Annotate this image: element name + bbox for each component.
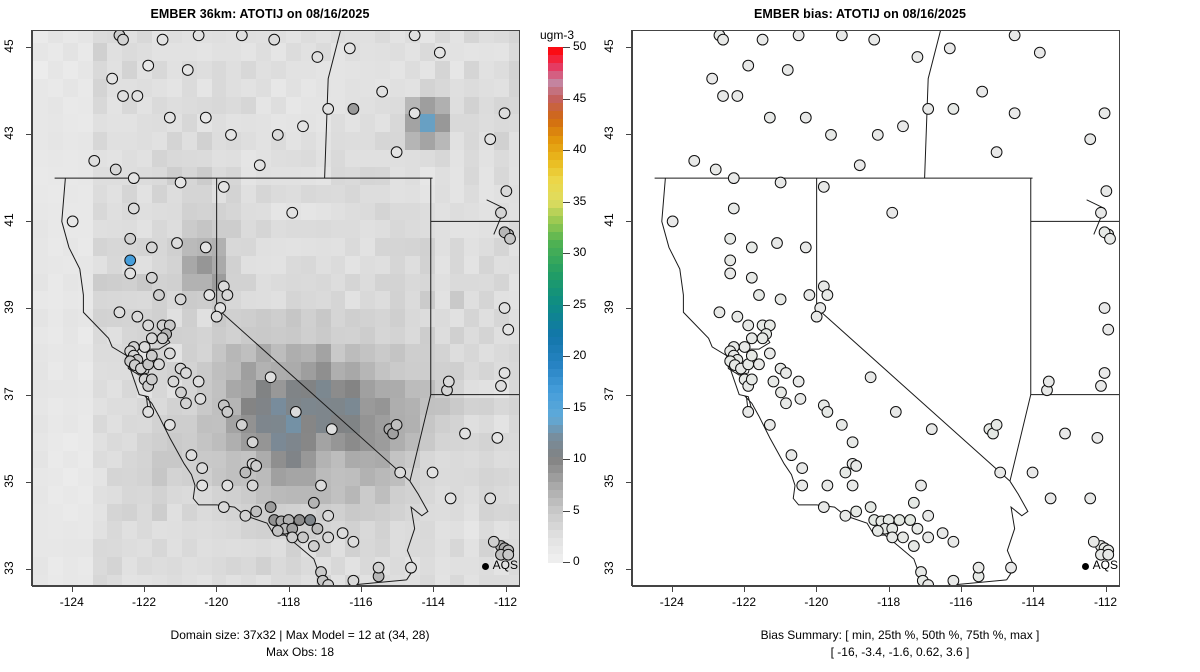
left-footer-line1: Domain size: 37x32 | Max Model = 12 at (… (0, 628, 600, 642)
aqs-site-marker (287, 207, 298, 218)
aqs-site-marker (1043, 376, 1054, 387)
aqs-site-marker (125, 255, 136, 266)
aqs-site-marker (718, 91, 729, 102)
aqs-site-marker (287, 532, 298, 543)
colorbar-tick (563, 562, 570, 563)
aqs-site-marker (973, 562, 984, 573)
aqs-site-marker (1096, 207, 1107, 218)
aqs-site-marker (908, 541, 919, 552)
y-tick-label: 37 (2, 379, 16, 409)
aqs-site-marker (445, 493, 456, 504)
y-tick-label: 33 (2, 553, 16, 583)
aqs-site-marker (348, 104, 359, 115)
aqs-site-marker (847, 437, 858, 448)
aqs-site-marker (887, 207, 898, 218)
aqs-site-marker (1092, 432, 1103, 443)
aqs-site-marker (240, 467, 251, 478)
aqs-site-marker (923, 532, 934, 543)
left-footer-line2: Max Obs: 18 (0, 645, 600, 659)
aqs-site-marker (222, 480, 233, 491)
x-tick-label: -116 (339, 595, 383, 609)
x-tick-label: -114 (1011, 595, 1055, 609)
aqs-site-marker (118, 34, 129, 45)
aqs-site-marker (1105, 233, 1116, 244)
aqs-site-marker (114, 307, 125, 318)
aqs-site-marker (427, 467, 438, 478)
aqs-site-marker (226, 129, 237, 140)
aqs-site-marker (948, 536, 959, 547)
y-tick-label: 45 (2, 31, 16, 61)
aqs-site-marker (725, 255, 736, 266)
aqs-site-marker (488, 536, 499, 547)
colorbar-tick (563, 459, 570, 460)
colorbar-tick-label: 20 (573, 348, 586, 362)
aqs-site-marker (739, 342, 750, 353)
aqs-site-marker (977, 86, 988, 97)
aqs-site-marker (118, 91, 129, 102)
aqs-site-marker (265, 372, 276, 383)
x-tick-label: -116 (939, 595, 983, 609)
aqs-site-marker (254, 160, 265, 171)
aqs-site-marker (373, 562, 384, 573)
x-tick-label: -124 (50, 595, 94, 609)
aqs-site-marker (294, 515, 305, 526)
aqs-site-marker (154, 359, 165, 370)
aqs-site-marker (348, 575, 359, 585)
aqs-site-marker (912, 52, 923, 63)
aqs-site-marker (786, 450, 797, 461)
aqs-site-marker (818, 502, 829, 513)
aqs-site-marker (840, 510, 851, 521)
aqs-site-marker (272, 526, 283, 537)
aqs-site-marker (854, 160, 865, 171)
aqs-site-marker (186, 450, 197, 461)
aqs-site-marker (865, 372, 876, 383)
state-border-nevada-east (410, 178, 431, 481)
aqs-site-marker (991, 419, 1002, 430)
aqs-site-marker (143, 407, 154, 418)
aqs-site-marker (505, 233, 516, 244)
colorbar-units-label: ugm-3 (540, 28, 574, 42)
aqs-site-marker (865, 502, 876, 513)
aqs-site-marker (251, 506, 262, 517)
aqs-site-marker (757, 34, 768, 45)
aqs-site-marker (193, 376, 204, 387)
aqs-legend-label: AQS (493, 558, 518, 572)
aqs-site-marker (718, 34, 729, 45)
aqs-site-marker (912, 523, 923, 534)
aqs-site-marker (887, 532, 898, 543)
aqs-site-marker (146, 242, 157, 253)
aqs-site-marker (948, 575, 959, 585)
aqs-site-marker (272, 129, 283, 140)
x-tick-label: -112 (1084, 595, 1128, 609)
left-panel-title: EMBER 36km: ATOTIJ on 08/16/2025 (0, 7, 520, 21)
y-tick-label: 39 (602, 292, 616, 322)
aqs-site-marker (305, 515, 316, 526)
aqs-site-marker (754, 290, 765, 301)
aqs-site-marker (391, 147, 402, 158)
aqs-site-marker (743, 407, 754, 418)
colorbar-tick (563, 305, 570, 306)
aqs-site-marker (236, 31, 247, 41)
aqs-site-marker (836, 419, 847, 430)
aqs-site-marker (409, 108, 420, 119)
aqs-site-marker (146, 272, 157, 283)
y-tick-label: 41 (2, 205, 16, 235)
aqs-site-marker (218, 502, 229, 513)
aqs-site-marker (154, 290, 165, 301)
colorbar-tick (563, 511, 570, 512)
aqs-site-marker (743, 320, 754, 331)
aqs-site-marker (772, 238, 783, 249)
x-tick-label: -114 (411, 595, 455, 609)
aqs-site-marker (377, 86, 388, 97)
aqs-site-marker (923, 104, 934, 115)
colorbar-tick-label: 45 (573, 91, 586, 105)
aqs-site-marker (944, 43, 955, 54)
aqs-site-marker (800, 112, 811, 123)
aqs-site-marker (175, 294, 186, 305)
aqs-site-marker (312, 52, 323, 63)
aqs-site-marker (323, 532, 334, 543)
aqs-site-marker (308, 541, 319, 552)
aqs-site-marker (157, 333, 168, 344)
aqs-site-marker (1101, 186, 1112, 197)
colorbar-tick-label: 50 (573, 39, 586, 53)
aqs-site-marker (175, 177, 186, 188)
aqs-site-marker (172, 238, 183, 249)
aqs-site-marker (197, 463, 208, 474)
y-tick-label: 43 (602, 118, 616, 148)
aqs-site-marker (181, 368, 192, 379)
colorbar-tick-label: 0 (573, 554, 580, 568)
aqs-site-marker (894, 515, 905, 526)
aqs-site-marker (395, 467, 406, 478)
x-tick-label: -118 (867, 595, 911, 609)
aqs-site-marker (501, 186, 512, 197)
aqs-site-marker (1103, 324, 1114, 335)
aqs-site-marker (181, 398, 192, 409)
aqs-site-marker (1060, 428, 1071, 439)
aqs-site-marker (298, 121, 309, 132)
aqs-site-marker (344, 43, 355, 54)
aqs-site-marker (775, 177, 786, 188)
aqs-site-marker (811, 311, 822, 322)
aqs-site-marker (804, 290, 815, 301)
x-tick-label: -120 (794, 595, 838, 609)
aqs-site-marker (754, 359, 765, 370)
aqs-site-marker (1099, 108, 1110, 119)
aqs-site-marker (503, 324, 514, 335)
aqs-site-marker (822, 407, 833, 418)
state-border-nevada-diagonal (217, 308, 410, 481)
x-tick-label: -122 (122, 595, 166, 609)
aqs-site-marker (1027, 467, 1038, 478)
aqs-site-marker (128, 203, 139, 214)
aqs-site-marker (157, 34, 168, 45)
y-axis-line (31, 30, 32, 586)
colorbar-tick (563, 202, 570, 203)
aqs-site-marker (492, 432, 503, 443)
aqs-site-marker (236, 419, 247, 430)
colorbar-tick-label: 40 (573, 142, 586, 156)
aqs-site-marker (269, 34, 280, 45)
aqs-site-marker (869, 34, 880, 45)
colorbar-tick-label: 25 (573, 297, 586, 311)
aqs-site-marker (898, 121, 909, 132)
aqs-site-marker (732, 311, 743, 322)
aqs-site-marker (793, 31, 804, 41)
aqs-site-marker (757, 333, 768, 344)
aqs-site-marker (308, 497, 319, 508)
aqs-site-marker (822, 480, 833, 491)
x-tick-label: -122 (722, 595, 766, 609)
aqs-site-marker (443, 376, 454, 387)
aqs-site-marker (836, 31, 847, 41)
aqs-site-marker (499, 368, 510, 379)
aqs-site-marker (1009, 31, 1020, 41)
aqs-site-marker (323, 104, 334, 115)
aqs-site-marker (139, 342, 150, 353)
x-axis-line (632, 586, 1120, 587)
aqs-site-marker (797, 480, 808, 491)
aqs-site-marker (176, 387, 187, 398)
right-panel: EMBER bias: ATOTIJ on 08/16/2025 -124-12… (600, 0, 1200, 672)
aqs-site-marker (764, 419, 775, 430)
aqs-site-marker (725, 233, 736, 244)
aqs-site-marker (182, 65, 193, 76)
aqs-site-marker (764, 112, 775, 123)
aqs-site-marker (1085, 493, 1096, 504)
aqs-site-marker (168, 376, 179, 387)
aqs-site-marker (485, 493, 496, 504)
aqs-site-marker (193, 31, 204, 41)
aqs-site-marker (991, 147, 1002, 158)
aqs-site-marker (826, 129, 837, 140)
aqs-site-marker (434, 47, 445, 58)
aqs-site-marker (496, 381, 507, 392)
aqs-site-marker (872, 129, 883, 140)
colorbar-tick-label: 15 (573, 400, 586, 414)
aqs-site-marker (768, 376, 779, 387)
aqs-site-marker (822, 290, 833, 301)
aqs-site-marker (200, 112, 211, 123)
aqs-site-marker (222, 407, 233, 418)
x-tick-label: -124 (650, 595, 694, 609)
colorbar-tick-label: 35 (573, 194, 586, 208)
aqs-site-marker (406, 562, 417, 573)
aqs-site-marker (485, 134, 496, 145)
state-border-nevada-east (1010, 178, 1031, 481)
aqs-site-marker (143, 320, 154, 331)
x-tick-label: -120 (194, 595, 238, 609)
aqs-site-marker (107, 73, 118, 84)
aqs-site-marker (312, 523, 323, 534)
left-panel: EMBER 36km: ATOTIJ on 08/16/2025 -124-12… (0, 0, 600, 672)
colorbar-tick (563, 150, 570, 151)
aqs-site-marker (298, 532, 309, 543)
y-axis-line (631, 30, 632, 586)
aqs-site-marker (710, 164, 721, 175)
aqs-site-marker (460, 428, 471, 439)
figure-root: EMBER 36km: ATOTIJ on 08/16/2025 -124-12… (0, 0, 1200, 672)
aqs-site-marker (290, 407, 301, 418)
aqs-site-marker (499, 108, 510, 119)
aqs-site-marker (937, 528, 948, 539)
aqs-site-marker (211, 311, 222, 322)
y-tick-label: 41 (602, 205, 616, 235)
aqs-site-marker (251, 461, 262, 472)
aqs-site-marker (776, 387, 787, 398)
x-axis-line (32, 586, 520, 587)
colorbar-tick (563, 99, 570, 100)
aqs-site-marker (1099, 368, 1110, 379)
aqs-site-marker (905, 515, 916, 526)
aqs-site-marker (851, 506, 862, 517)
aqs-site-marker (746, 242, 757, 253)
aqs-site-marker (923, 510, 934, 521)
aqs-site-marker (782, 65, 793, 76)
colorbar-tick-label: 5 (573, 503, 580, 517)
right-footer-line1: Bias Summary: [ min, 25th %, 50th %, 75t… (600, 628, 1200, 642)
aqs-site-marker (793, 376, 804, 387)
aqs-site-marker (1085, 134, 1096, 145)
aqs-site-marker (797, 463, 808, 474)
model-map-overlay (33, 31, 519, 585)
aqs-site-marker (337, 528, 348, 539)
aqs-site-marker (1045, 493, 1056, 504)
aqs-site-marker (247, 437, 258, 448)
aqs-site-marker (818, 181, 829, 192)
y-tick-label: 35 (602, 466, 616, 496)
right-panel-title: EMBER bias: ATOTIJ on 08/16/2025 (600, 7, 1120, 21)
aqs-site-marker (1096, 381, 1107, 392)
aqs-site-marker (840, 467, 851, 478)
aqs-site-marker (746, 374, 757, 385)
aqs-site-marker (200, 242, 211, 253)
aqs-site-marker (908, 497, 919, 508)
aqs-site-marker (1006, 562, 1017, 573)
aqs-site-marker (714, 307, 725, 318)
aqs-site-marker (316, 480, 327, 491)
aqs-site-marker (746, 333, 757, 344)
aqs-site-marker (764, 348, 775, 359)
aqs-site-marker (143, 60, 154, 71)
aqs-site-marker (197, 480, 208, 491)
aqs-site-marker (800, 242, 811, 253)
x-tick-label: -118 (267, 595, 311, 609)
colorbar-tick-label: 30 (573, 245, 586, 259)
aqs-site-marker (728, 173, 739, 184)
aqs-site-marker (732, 91, 743, 102)
y-tick-label: 39 (2, 292, 16, 322)
aqs-site-marker (146, 333, 157, 344)
aqs-site-marker (890, 407, 901, 418)
aqs-site-marker (204, 290, 215, 301)
y-tick-label: 43 (2, 118, 16, 148)
aqs-legend-label: AQS (1093, 558, 1118, 572)
colorbar-gradient (548, 47, 563, 562)
aqs-site-marker (348, 536, 359, 547)
aqs-site-marker (795, 393, 806, 404)
aqs-site-marker (110, 164, 121, 175)
aqs-site-marker (164, 112, 175, 123)
bias-map-overlay (633, 31, 1119, 585)
aqs-site-marker (195, 393, 206, 404)
colorbar-tick (563, 356, 570, 357)
aqs-site-marker (146, 374, 157, 385)
aqs-site-marker (125, 233, 136, 244)
right-footer-line2: [ -16, -3.4, -1.6, 0.62, 3.6 ] (600, 645, 1200, 659)
aqs-site-marker (222, 290, 233, 301)
aqs-site-marker (125, 268, 136, 279)
aqs-site-marker (728, 203, 739, 214)
y-tick-label: 45 (602, 31, 616, 61)
aqs-site-marker (1088, 536, 1099, 547)
aqs-site-marker (743, 60, 754, 71)
aqs-site-marker (1034, 47, 1045, 58)
aqs-site-marker (851, 461, 862, 472)
aqs-site-marker (847, 480, 858, 491)
aqs-site-marker (916, 480, 927, 491)
aqs-site-marker (132, 91, 143, 102)
aqs-site-marker (948, 104, 959, 115)
bias-map-plot (632, 30, 1120, 586)
state-border-nevada-diagonal (817, 308, 1010, 481)
aqs-site-marker (781, 398, 792, 409)
aqs-site-marker (132, 311, 143, 322)
aqs-site-marker (164, 419, 175, 430)
y-tick-label: 33 (602, 553, 616, 583)
aqs-site-marker (326, 424, 337, 435)
aqs-site-marker (898, 532, 909, 543)
aqs-site-marker (496, 207, 507, 218)
aqs-site-marker (67, 216, 78, 227)
y-tick-label: 35 (2, 466, 16, 496)
aqs-site-marker (391, 419, 402, 430)
aqs-site-marker (240, 510, 251, 521)
aqs-site-marker (781, 368, 792, 379)
aqs-site-marker (323, 510, 334, 521)
aqs-site-marker (218, 181, 229, 192)
aqs-site-marker (89, 155, 100, 166)
colorbar-tick-label: 10 (573, 451, 586, 465)
aqs-site-marker (775, 294, 786, 305)
aqs-site-marker (409, 31, 420, 41)
colorbar-segment (548, 554, 563, 563)
aqs-site-marker (1099, 303, 1110, 314)
y-tick-label: 37 (602, 379, 616, 409)
aqs-site-marker (995, 467, 1006, 478)
x-tick-label: -112 (484, 595, 528, 609)
aqs-site-marker (872, 526, 883, 537)
aqs-site-marker (667, 216, 678, 227)
aqs-site-marker (689, 155, 700, 166)
model-map-plot (32, 30, 520, 586)
aqs-site-marker (247, 480, 258, 491)
aqs-site-marker (746, 350, 757, 361)
aqs-site-marker (926, 424, 937, 435)
aqs-site-marker (128, 173, 139, 184)
aqs-site-marker (1009, 108, 1020, 119)
colorbar-tick (563, 253, 570, 254)
colorbar-tick (563, 47, 570, 48)
aqs-site-marker (746, 272, 757, 283)
colorbar-tick (563, 408, 570, 409)
aqs-site-marker (146, 350, 157, 361)
aqs-site-marker (265, 502, 276, 513)
